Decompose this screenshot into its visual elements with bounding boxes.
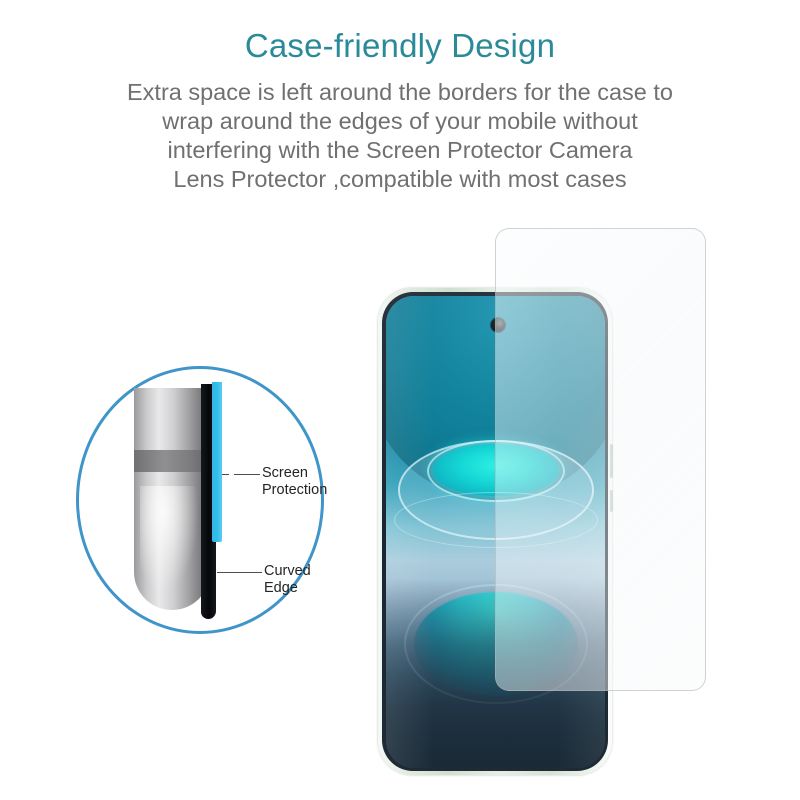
subtitle-line-3: interfering with the Screen Protector Ca… <box>50 136 750 165</box>
subtitle-line-4: Lens Protector ,compatible with most cas… <box>50 165 750 194</box>
leader-line-tick-screen-protection <box>222 474 229 475</box>
callout-label-curved-edge-line1: Curved <box>264 563 311 580</box>
headline-block: Case-friendly Design Extra space is left… <box>0 26 800 194</box>
callout-label-screen-protection: Screen Protection <box>262 465 327 499</box>
phone-edge-band <box>134 450 210 472</box>
page-subtitle: Extra space is left around the borders f… <box>50 78 750 194</box>
edge-cross-section-callout: Screen Protection Curved Edge <box>76 366 330 640</box>
screen-protector-sheet <box>495 228 706 691</box>
callout-label-curved-edge: Curved Edge <box>264 563 311 597</box>
page-title: Case-friendly Design <box>0 26 800 66</box>
phone-edge-highlight <box>140 486 198 590</box>
subtitle-line-1: Extra space is left around the borders f… <box>50 78 750 107</box>
leader-line-screen-protection <box>234 474 260 475</box>
callout-label-screen-protection-line2: Protection <box>262 482 327 499</box>
screen-protector-film-illustration <box>212 382 222 542</box>
leader-line-curved-edge <box>217 572 262 573</box>
callout-label-screen-protection-line1: Screen <box>262 465 327 482</box>
product-feature-image: Case-friendly Design Extra space is left… <box>0 0 800 800</box>
callout-label-curved-edge-line2: Edge <box>264 580 311 597</box>
subtitle-line-2: wrap around the edges of your mobile wit… <box>50 107 750 136</box>
